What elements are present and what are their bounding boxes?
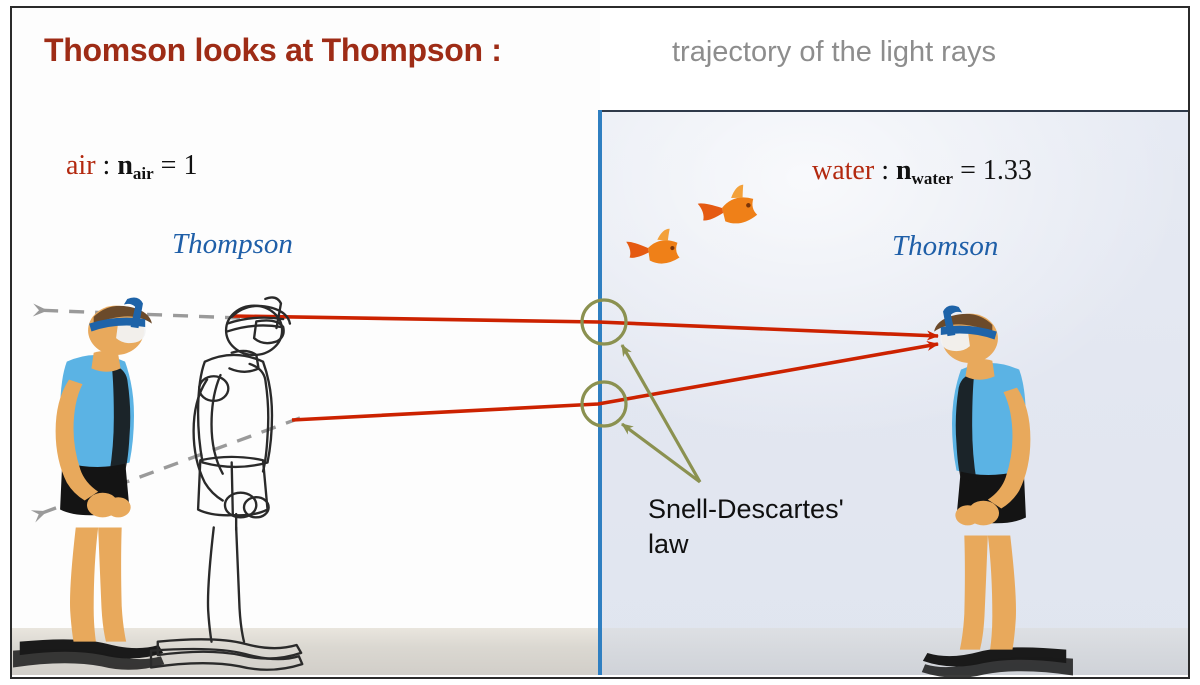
air-index-symbol: n [117, 150, 133, 181]
page-title: Thomson looks at Thompson : [44, 32, 502, 69]
air-refractive-index-label: air : nair = 1 [66, 150, 197, 184]
water-index-symbol: n [896, 155, 912, 186]
snell-law-line-2: law [648, 527, 918, 562]
air-separator: : [96, 150, 118, 181]
snell-law-line-1: Snell-Descartes' [648, 492, 918, 527]
water-equals: = [953, 155, 983, 186]
label-thompson: Thompson [172, 228, 293, 261]
label-thomson: Thomson [892, 230, 998, 263]
page-subtitle: trajectory of the light rays [672, 36, 996, 69]
slide-canvas: Thomson looks at Thompson : trajectory o… [0, 0, 1200, 685]
water-index-subscript: water [912, 169, 954, 188]
water-refractive-index-label: water : nwater = 1.33 [812, 155, 1032, 189]
air-index-value: 1 [183, 150, 197, 181]
air-water-interface-line [598, 110, 602, 675]
water-index-value: 1.33 [983, 155, 1032, 186]
air-region [12, 8, 600, 675]
snell-descartes-law-annotation: Snell-Descartes' law [648, 492, 918, 561]
air-index-subscript: air [133, 164, 154, 183]
air-equals: = [154, 150, 184, 181]
water-medium-label: water [812, 155, 874, 186]
ground-strip-water [600, 628, 1188, 675]
water-region [600, 110, 1188, 675]
air-medium-label: air [66, 150, 96, 181]
water-separator: : [874, 155, 896, 186]
